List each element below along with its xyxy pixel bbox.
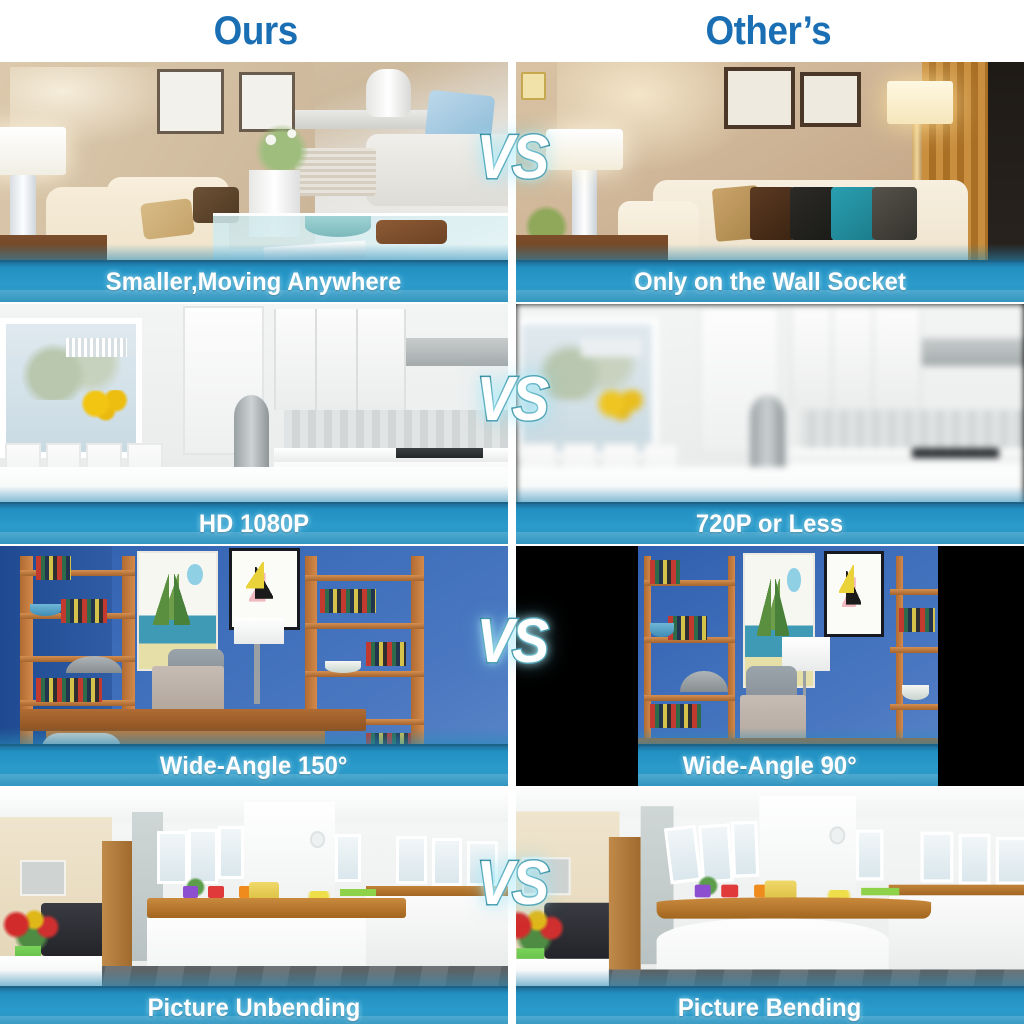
panel-others-field-of-view: Wide-Angle 90° [516, 546, 1024, 786]
caption-text-others-distortion: Picture Bending [678, 994, 862, 1023]
comparison-row-resolution: HD 1080P [0, 304, 1024, 544]
caption-bar-others-resolution: 720P or Less [516, 502, 1024, 544]
letterbox-right [938, 546, 1024, 786]
caption-bar-ours-field-of-view: Wide-Angle 150° [0, 744, 508, 786]
caption-text-others-field-of-view: Wide-Angle 90° [683, 752, 857, 781]
header: Ours Other’s [0, 0, 1024, 62]
caption-bar-others-distortion: Picture Bending [516, 986, 1024, 1024]
panel-ours-resolution: HD 1080P [0, 304, 508, 544]
letterbox-left [516, 546, 638, 786]
caption-text-ours-distortion: Picture Unbending [148, 994, 361, 1023]
header-column-others: Other’s [512, 9, 1024, 53]
comparison-infographic: Ours Other’s [0, 0, 1024, 1024]
panel-others-distortion: Picture Bending [516, 788, 1024, 1024]
comparison-grid: Smaller,Moving Anywhere Only on [0, 62, 1024, 1024]
caption-text-ours-size: Smaller,Moving Anywhere [106, 268, 402, 297]
header-column-ours: Ours [0, 9, 512, 53]
comparison-row-distortion: Picture Unbending [0, 788, 1024, 1024]
caption-text-ours-resolution: HD 1080P [199, 510, 309, 539]
panel-others-resolution: 720P or Less [516, 304, 1024, 544]
page-title-others: Other’s [705, 9, 831, 53]
caption-bar-ours-size: Smaller,Moving Anywhere [0, 260, 508, 302]
panel-ours-size: Smaller,Moving Anywhere [0, 62, 508, 302]
comparison-row-field-of-view: Wide-Angle 150° [0, 546, 1024, 786]
caption-bar-ours-resolution: HD 1080P [0, 502, 508, 544]
caption-text-ours-field-of-view: Wide-Angle 150° [160, 752, 348, 781]
caption-bar-ours-distortion: Picture Unbending [0, 986, 508, 1024]
caption-bar-others-size: Only on the Wall Socket [516, 260, 1024, 302]
caption-text-others-resolution: 720P or Less [696, 510, 843, 539]
panel-others-size: Only on the Wall Socket [516, 62, 1024, 302]
caption-text-others-size: Only on the Wall Socket [634, 268, 906, 297]
comparison-row-size: Smaller,Moving Anywhere Only on [0, 62, 1024, 302]
page-title-ours: Ours [214, 9, 298, 53]
panel-ours-distortion: Picture Unbending [0, 788, 508, 1024]
panel-ours-field-of-view: Wide-Angle 150° [0, 546, 508, 786]
